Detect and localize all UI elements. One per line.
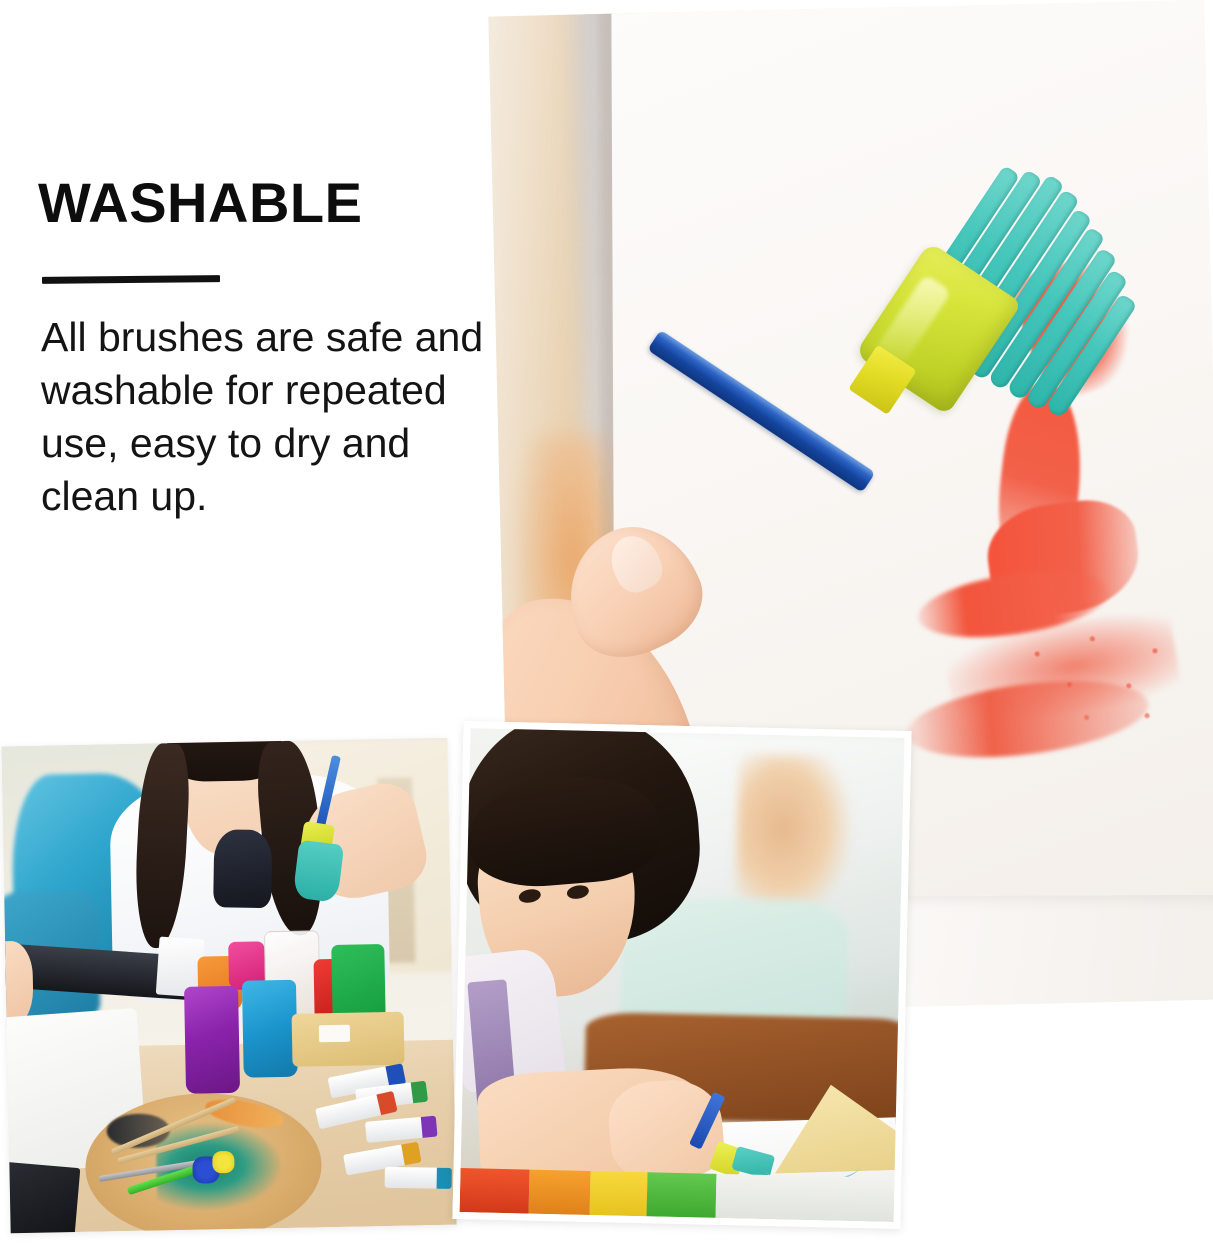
colored-card-stack	[460, 1168, 895, 1221]
black-tool	[1, 1161, 80, 1233]
paint-bottle-purple	[184, 985, 240, 1093]
page-title: WASHABLE	[38, 172, 508, 234]
photo-girl-inner	[1, 738, 456, 1233]
paint-box-label	[319, 1025, 351, 1043]
photo-girl-painting	[1, 738, 456, 1233]
paint-bottle-blue	[242, 979, 297, 1077]
card-amber	[529, 1170, 591, 1215]
photo-boy-drawing	[452, 721, 911, 1229]
girl-bow-tie	[213, 829, 272, 908]
card-yellow	[590, 1171, 647, 1216]
photo-boy-inner	[460, 728, 905, 1222]
feature-description: All brushes are safe and washable for re…	[41, 311, 511, 523]
feature-banner: WASHABLE All brushes are safe and washab…	[0, 0, 1213, 1243]
card-orange	[460, 1168, 530, 1213]
background-person	[735, 754, 852, 921]
paint-speckles	[1010, 590, 1200, 753]
feature-text-panel: WASHABLE All brushes are safe and washab…	[38, 172, 508, 523]
flower-stamp-yellow	[212, 1151, 235, 1173]
title-divider	[42, 275, 220, 284]
card-white	[716, 1174, 895, 1222]
card-green	[646, 1173, 716, 1218]
paint-tube-cyan	[384, 1166, 451, 1188]
